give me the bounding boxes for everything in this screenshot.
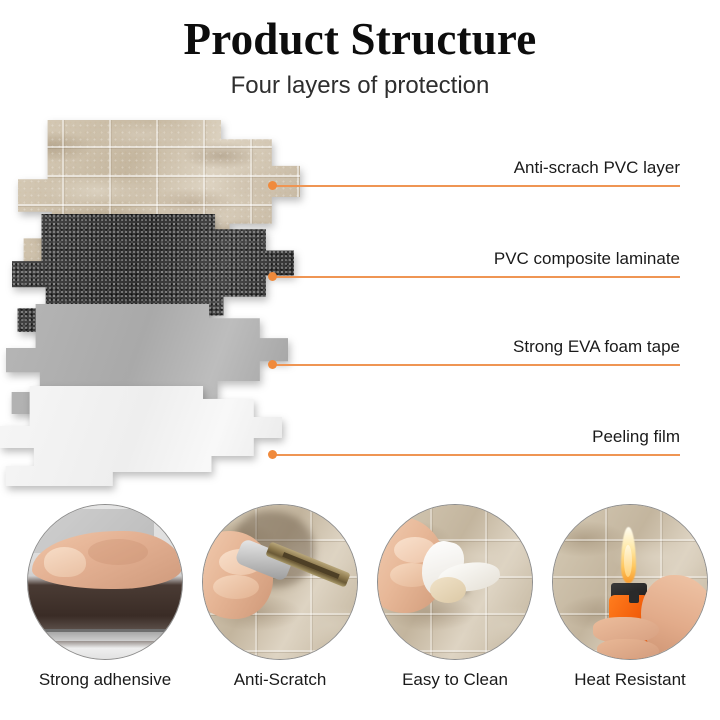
- product-layer-diagram: Anti-scrach PVC layer PVC composite lami…: [0, 118, 720, 488]
- leader-dot-anti-scratch-pvc: [268, 181, 277, 190]
- label-anti-scratch-pvc: Anti-scrach PVC layer: [380, 158, 680, 178]
- feature-row: Strong adhensive Anti-Scratch: [0, 498, 720, 720]
- leader-dot-peeling-film: [268, 450, 277, 459]
- feature-photo-strong-adhensive: [27, 504, 183, 660]
- page-subtitle: Four layers of protection: [0, 72, 720, 100]
- photo-key-scratching-tile: [203, 505, 357, 659]
- feature-caption-anti-scratch: Anti-Scratch: [195, 670, 365, 690]
- leader-dot-pvc-composite-laminate: [268, 272, 277, 281]
- leader-line-anti-scratch-pvc: [272, 185, 680, 187]
- photo-thumb-pressing-adhesive: [28, 505, 182, 659]
- feature-caption-heat-resistant: Heat Resistant: [545, 670, 715, 690]
- leader-dot-eva-foam-tape: [268, 360, 277, 369]
- feature-photo-heat-resistant: [552, 504, 708, 660]
- leader-line-pvc-composite-laminate: [272, 276, 680, 278]
- leader-line-eva-foam-tape: [272, 364, 680, 366]
- feature-caption-easy-to-clean: Easy to Clean: [370, 670, 540, 690]
- label-eva-foam-tape: Strong EVA foam tape: [380, 337, 680, 357]
- photo-wiping-tile-with-cloth: [378, 505, 532, 659]
- header: Product Structure Four layers of protect…: [0, 0, 720, 115]
- feature-photo-anti-scratch: [202, 504, 358, 660]
- label-peeling-film: Peeling film: [380, 427, 680, 447]
- layer-peeling-film: [0, 386, 282, 486]
- label-pvc-composite-laminate: PVC composite laminate: [380, 249, 680, 269]
- feature-caption-strong-adhensive: Strong adhensive: [20, 670, 190, 690]
- page-title: Product Structure: [0, 16, 720, 63]
- feature-photo-easy-to-clean: [377, 504, 533, 660]
- photo-lighter-flame-on-tile: [553, 505, 707, 659]
- layer-peeling-film-surface: [0, 386, 282, 486]
- leader-line-peeling-film: [272, 454, 680, 456]
